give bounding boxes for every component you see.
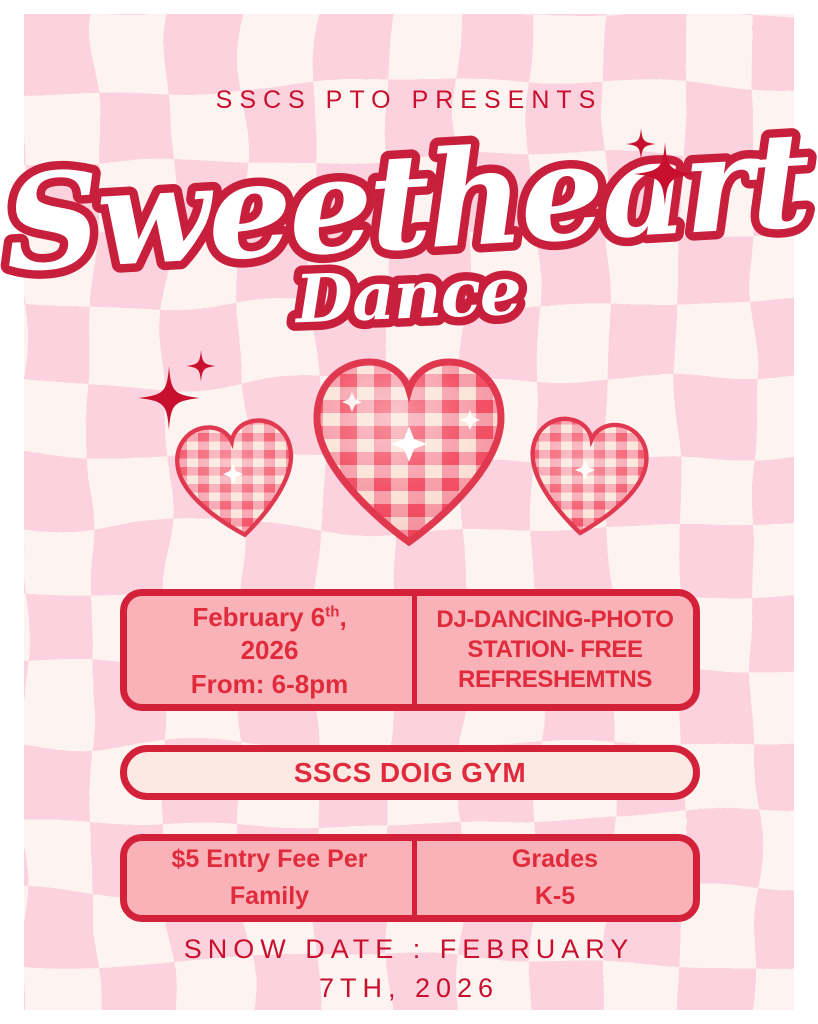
flyer-canvas: SSCS PTO PRESENTS Sweetheart Sweetheart … (0, 0, 818, 1024)
grades-line-2: K-5 (535, 878, 575, 916)
date-year: 2026 (241, 634, 299, 667)
presenter-eyebrow: SSCS PTO PRESENTS (0, 86, 818, 115)
features-line-2: STATION- FREE (467, 635, 642, 665)
datetime-cell: February 6th, 2026 From: 6-8pm (127, 596, 417, 704)
sparkle-top-right-icon (608, 122, 704, 218)
snow-date-line-1: SNOW DATE : FEBRUARY (0, 930, 818, 969)
heart-right-small (500, 406, 700, 578)
date-month-day: February 6 (192, 602, 325, 632)
fee-line-2: Family (230, 878, 309, 916)
datetime-features-row: February 6th, 2026 From: 6-8pm DJ-DANCIN… (120, 589, 700, 711)
grades-line-1: Grades (512, 841, 598, 879)
snow-date-footer: SNOW DATE : FEBRUARY 7TH, 2026 (0, 930, 818, 1008)
features-cell: DJ-DANCING-PHOTO STATION- FREE REFRESHEM… (417, 596, 693, 704)
snow-date-line-2: 7TH, 2026 (0, 969, 818, 1008)
venue-row: SSCS DOIG GYM (120, 745, 700, 800)
date-ordinal: th (325, 603, 339, 620)
fee-line-1: $5 Entry Fee Per (172, 841, 368, 879)
venue-label: SSCS DOIG GYM (294, 757, 526, 789)
entry-fee-cell: $5 Entry Fee Per Family (127, 841, 417, 915)
fee-grades-row: $5 Entry Fee Per Family Grades K-5 (120, 834, 700, 922)
heart-center-large (300, 348, 520, 558)
disco-hearts-cluster (0, 348, 818, 578)
date-comma: , (339, 602, 346, 632)
features-line-1: DJ-DANCING-PHOTO (436, 605, 673, 635)
date-time: From: 6-8pm (191, 668, 348, 701)
features-line-3: REFRESHEMTNS (458, 665, 652, 695)
grades-cell: Grades K-5 (417, 841, 693, 915)
date-line: February 6th, (192, 601, 346, 634)
